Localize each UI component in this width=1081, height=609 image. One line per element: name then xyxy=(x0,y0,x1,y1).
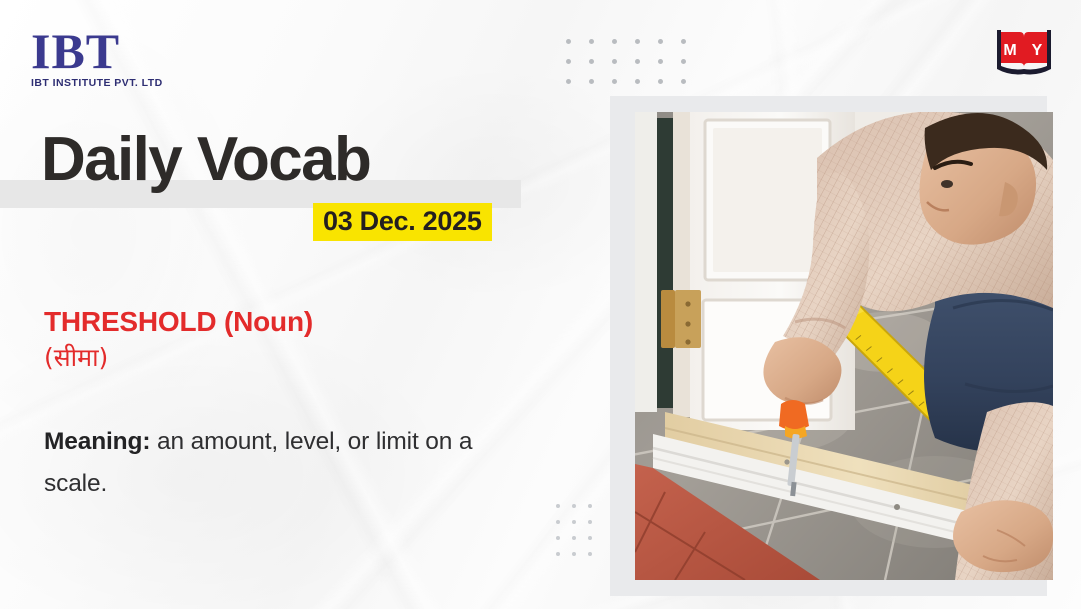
dot-grid-bottom-decoration xyxy=(556,504,604,568)
dot-grid-top-decoration xyxy=(566,39,704,99)
my-book-logo: M Y xyxy=(995,26,1053,78)
ibt-logo: IBT IBT INSTITUTE PVT. LTD xyxy=(31,26,181,88)
svg-text:M: M xyxy=(1003,42,1016,59)
vocab-illustration-photo xyxy=(635,112,1053,580)
vocab-term: THRESHOLD (Noun) xyxy=(44,305,313,338)
ibt-logo-mark: IBT xyxy=(31,26,181,76)
meaning-label: Meaning: xyxy=(44,428,150,455)
daily-vocab-poster: IBT IBT INSTITUTE PVT. LTD M Y Daily Voc… xyxy=(0,0,1081,609)
threshold-installation-illustration xyxy=(635,112,1053,580)
vocab-translation: (सीमा) xyxy=(44,343,108,373)
page-title: Daily Vocab xyxy=(41,129,370,191)
open-book-icon: M Y xyxy=(995,26,1053,78)
vocab-meaning: Meaning: an amount, level, or limit on a… xyxy=(44,421,541,505)
ibt-logo-subtitle: IBT INSTITUTE PVT. LTD xyxy=(31,77,181,89)
date-badge: 03 Dec. 2025 xyxy=(313,203,492,241)
svg-text:Y: Y xyxy=(1032,42,1043,59)
